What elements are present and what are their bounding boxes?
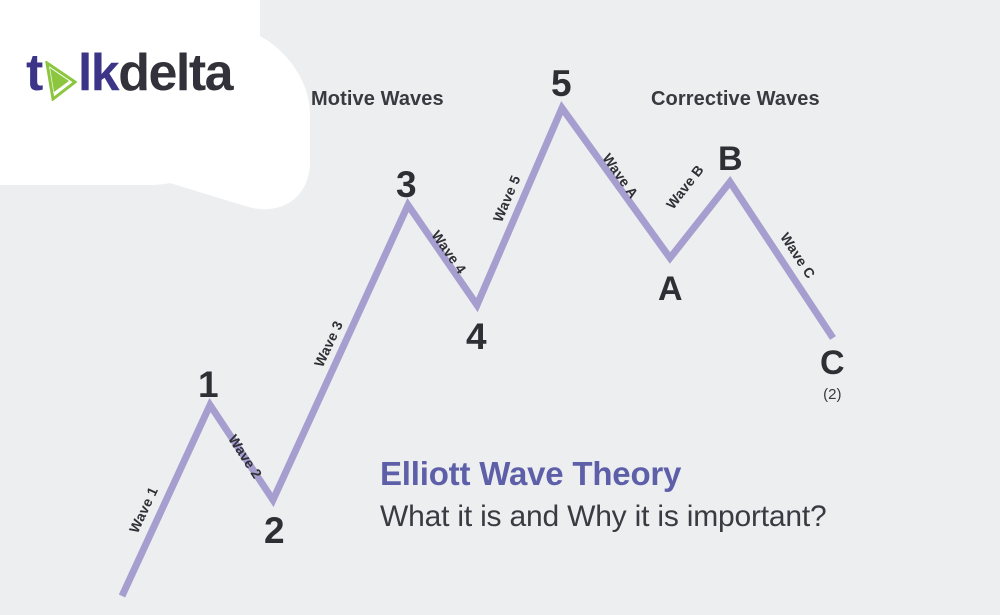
infographic-canvas: t lk delta Motive Waves Corrective Waves… (0, 0, 1000, 615)
page-subtitle: What it is and Why it is important? (380, 499, 827, 535)
pivot-label-c-text: C (820, 344, 845, 382)
pivot-label-b: B (718, 142, 743, 176)
pivot-label-3: 3 (396, 166, 417, 203)
pivot-label-2: 2 (264, 512, 285, 549)
logo-letters-lk: lk (78, 47, 118, 99)
brand-logo-text: t lk delta (26, 47, 232, 99)
pivot-label-c-sub: (2) (820, 387, 845, 402)
pivot-label-c: C(2) (820, 346, 845, 402)
logo-letter-t: t (26, 47, 42, 99)
page-title: Elliott Wave Theory (380, 455, 827, 493)
logo-letters-delta: delta (118, 47, 232, 99)
brand-logo[interactable]: t lk delta (26, 44, 232, 102)
pivot-label-a: A (658, 272, 683, 306)
triangle-play-icon (43, 61, 77, 101)
title-block: Elliott Wave Theory What it is and Why i… (380, 455, 827, 535)
pivot-label-4: 4 (466, 318, 487, 355)
pivot-label-1: 1 (198, 366, 219, 403)
pivot-label-5: 5 (551, 65, 572, 102)
